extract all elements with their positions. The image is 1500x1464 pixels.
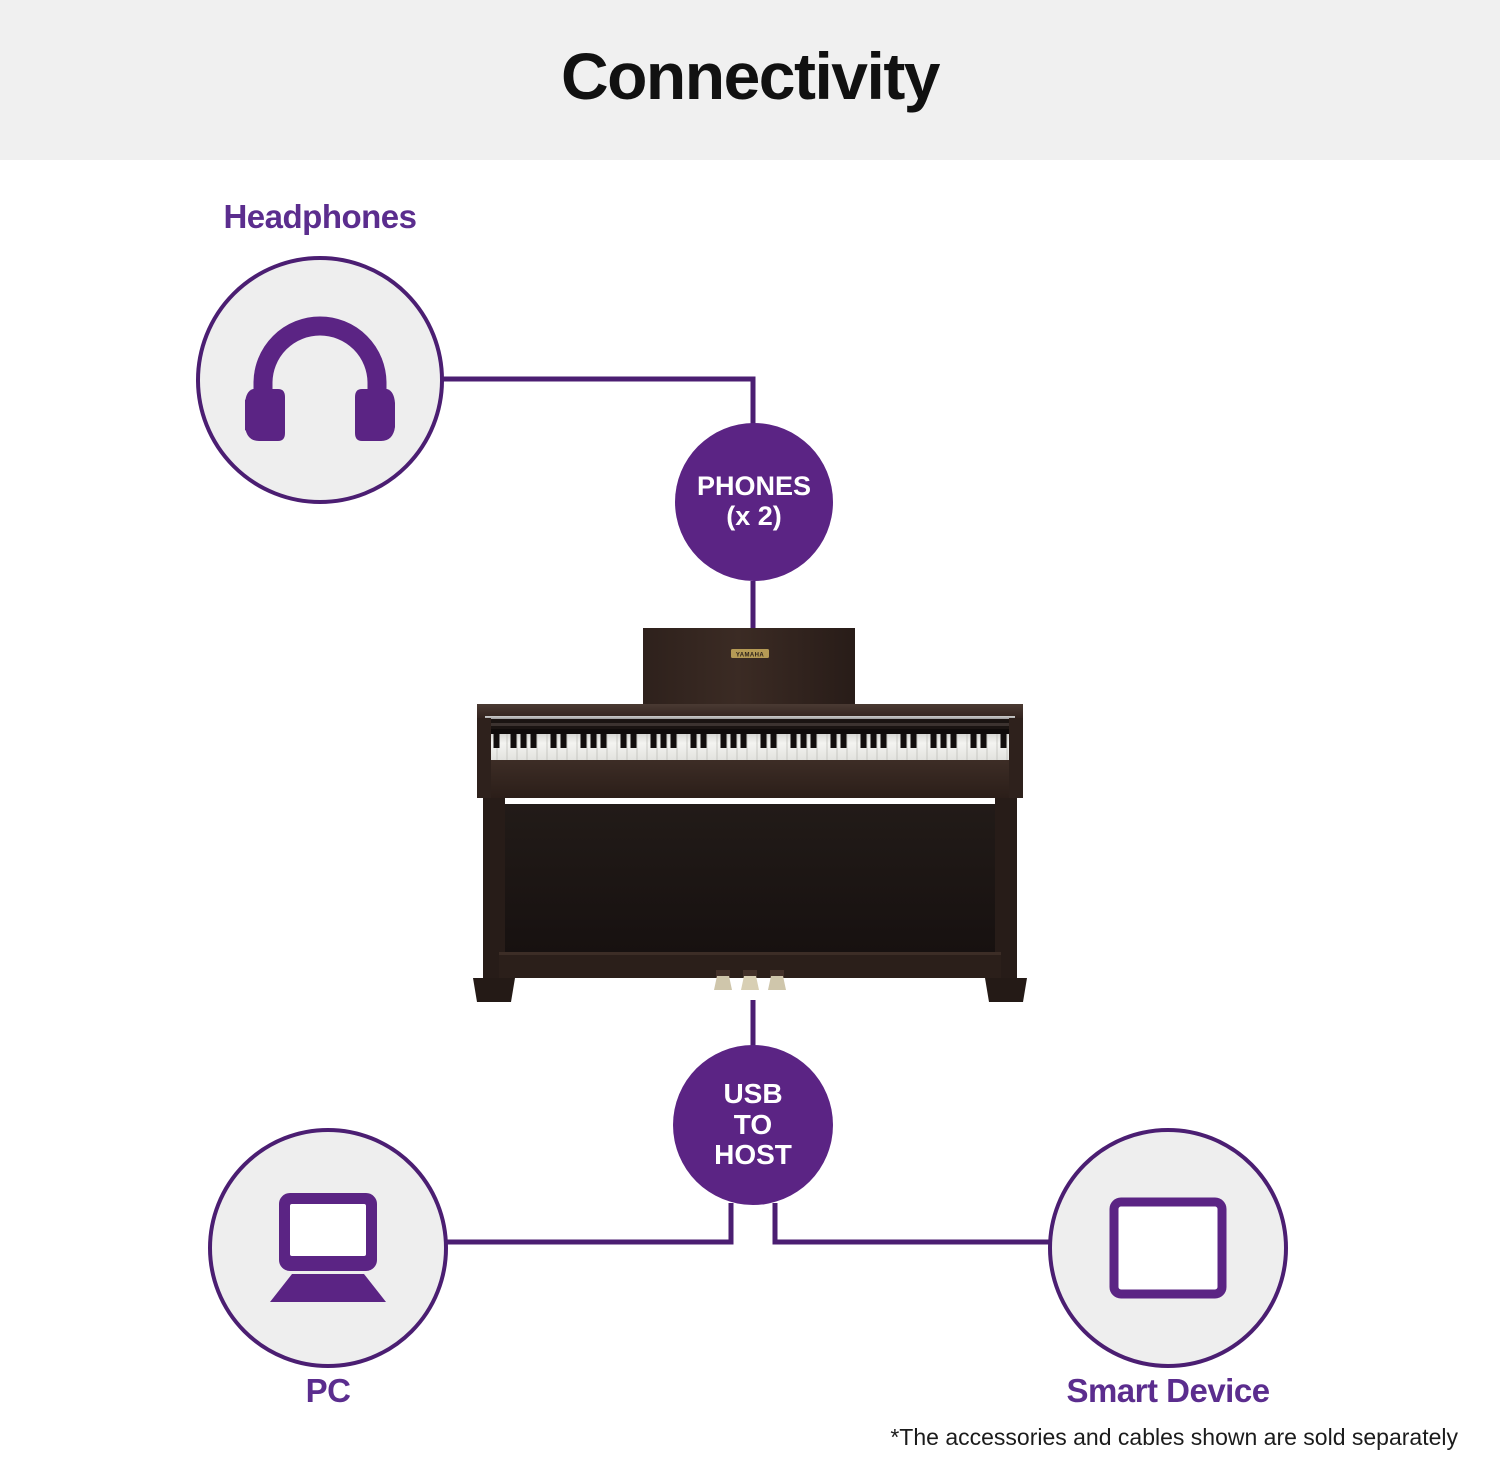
port-badge-usb-to-host[interactable]: USB TO HOST bbox=[673, 1045, 833, 1205]
port-usb-line1: USB bbox=[723, 1079, 782, 1110]
digital-piano-illustration: YAMAHA bbox=[455, 612, 1045, 1022]
node-smart-device[interactable] bbox=[1048, 1128, 1288, 1368]
disclaimer-text: *The accessories and cables shown are so… bbox=[890, 1424, 1458, 1451]
node-pc[interactable] bbox=[208, 1128, 448, 1368]
node-headphones[interactable] bbox=[196, 256, 444, 504]
smart-device-label: Smart Device bbox=[968, 1372, 1368, 1410]
port-usb-line3: HOST bbox=[714, 1140, 792, 1171]
connectivity-diagram: Headphones PHONES (x 2) bbox=[0, 0, 1500, 1464]
keyboard bbox=[487, 734, 1013, 760]
tablet-icon bbox=[1098, 1188, 1238, 1308]
svg-text:YAMAHA: YAMAHA bbox=[736, 653, 764, 659]
pedals bbox=[714, 970, 786, 990]
pc-label: PC bbox=[128, 1372, 528, 1410]
port-phones-line1: PHONES bbox=[697, 472, 811, 502]
port-phones-line2: (x 2) bbox=[726, 502, 782, 532]
headphones-label: Headphones bbox=[120, 198, 520, 236]
headphones-icon bbox=[245, 315, 395, 445]
port-badge-phones[interactable]: PHONES (x 2) bbox=[675, 423, 833, 581]
port-usb-line2: TO bbox=[734, 1110, 772, 1141]
laptop-icon bbox=[258, 1188, 398, 1308]
